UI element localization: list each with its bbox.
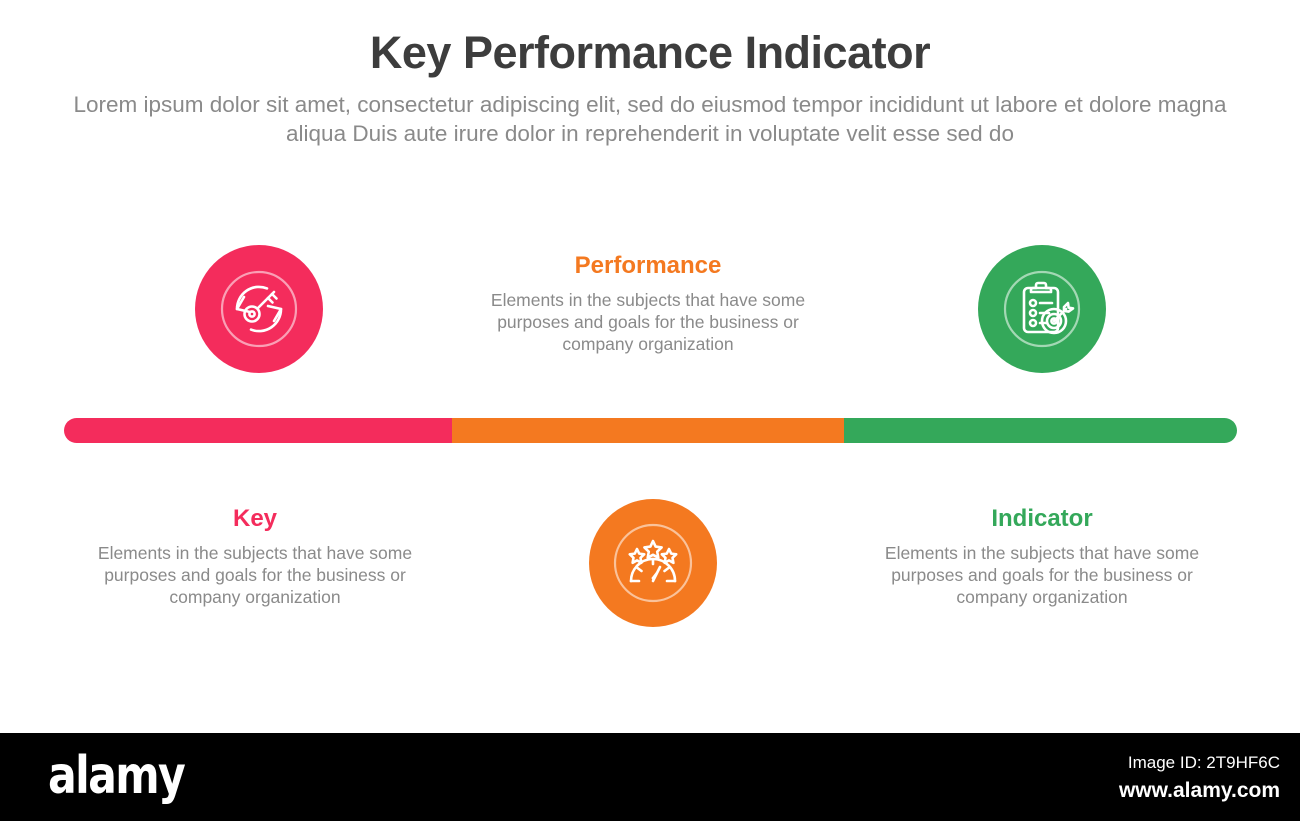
timeline-bar xyxy=(64,418,1237,443)
timeline-segment-performance xyxy=(452,418,844,443)
key-rotation-icon xyxy=(217,267,301,351)
timeline-segment-indicator xyxy=(844,418,1237,443)
item-indicator: Indicator Elements in the subjects that … xyxy=(877,505,1207,608)
badge-performance[interactable] xyxy=(589,499,717,627)
kpi-diagram: Key Elements in the subjects that have s… xyxy=(0,0,1300,733)
item-performance: Performance Elements in the subjects tha… xyxy=(483,252,813,355)
alamy-logo: alamy xyxy=(48,750,184,802)
item-description-indicator: Elements in the subjects that have some … xyxy=(877,542,1207,608)
timeline-segment-key xyxy=(64,418,452,443)
item-description-key: Elements in the subjects that have some … xyxy=(90,542,420,608)
clipboard-target-icon xyxy=(1000,267,1084,351)
item-key: Key Elements in the subjects that have s… xyxy=(90,505,420,608)
footer-meta: Image ID: 2T9HF6C www.alamy.com xyxy=(1119,750,1280,805)
watermark-footer: alamy Image ID: 2T9HF6C www.alamy.com xyxy=(0,733,1300,821)
item-title-performance: Performance xyxy=(483,252,813,281)
alamy-url: www.alamy.com xyxy=(1119,776,1280,805)
item-title-indicator: Indicator xyxy=(877,505,1207,534)
item-title-key: Key xyxy=(90,505,420,534)
badge-indicator[interactable] xyxy=(978,245,1106,373)
badge-key[interactable] xyxy=(195,245,323,373)
item-description-performance: Elements in the subjects that have some … xyxy=(483,289,813,355)
speedometer-stars-icon xyxy=(609,519,697,607)
image-id-label: Image ID: 2T9HF6C xyxy=(1119,750,1280,776)
